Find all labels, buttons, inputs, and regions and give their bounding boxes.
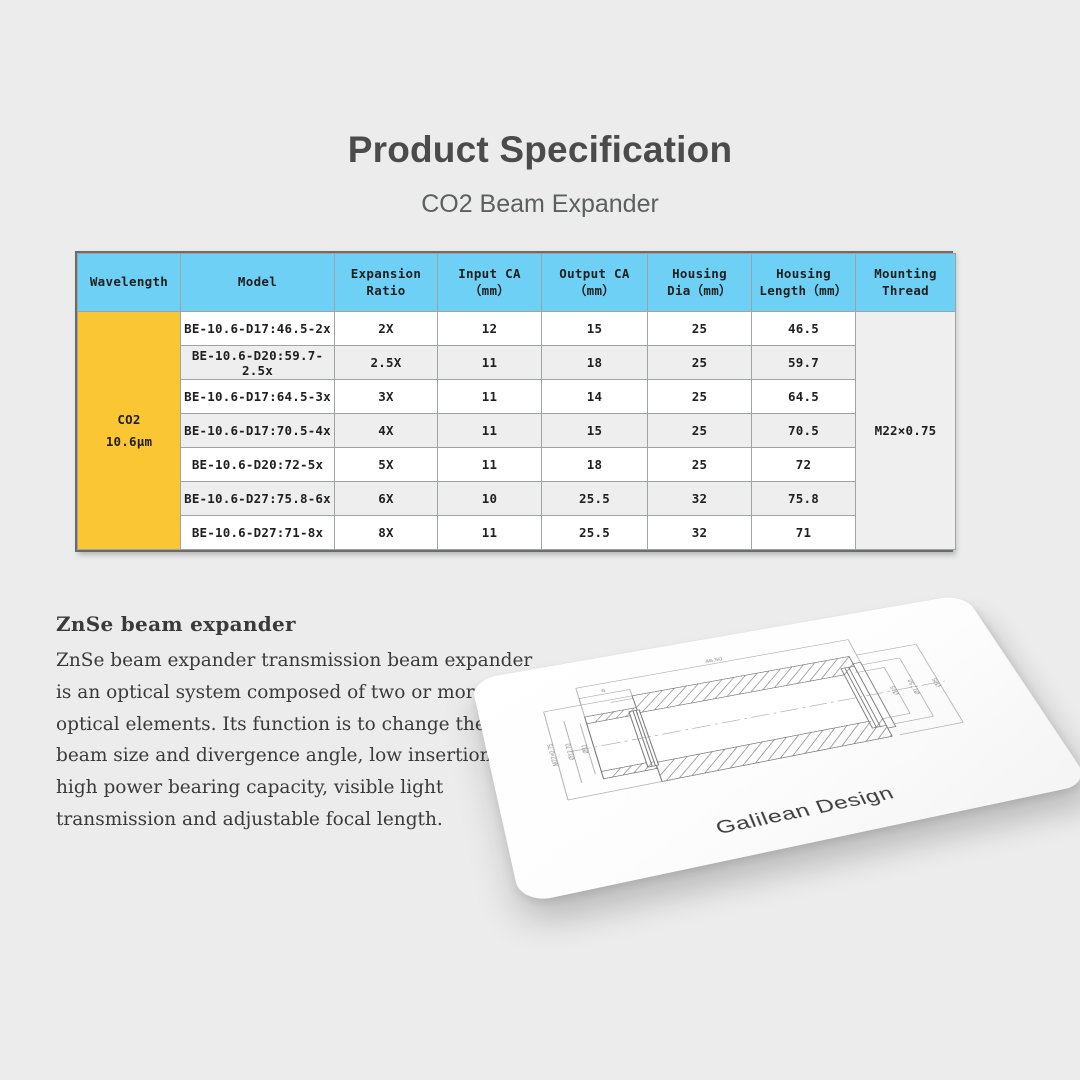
- table-row: BE-10.6-D20:59.7-2.5x 2.5X 11 18 25 59.7: [78, 346, 956, 380]
- description-title: ZnSe beam expander: [56, 612, 541, 636]
- cell-housing-length: 64.5: [752, 380, 856, 414]
- cell-expansion-ratio: 6X: [335, 482, 438, 516]
- header-line-1: Housing: [752, 266, 855, 283]
- header-line-2: Dia（mm）: [648, 283, 751, 300]
- page-title: Product Specification: [0, 128, 1080, 172]
- cross-section-drawing: 46.50 6 M22×0.75 Ø12.70 Ø11 Ø15 Ø17.50 Ø…: [509, 612, 1026, 841]
- cell-expansion-ratio: 2.5X: [335, 346, 438, 380]
- cell-input-ca: 11: [438, 380, 542, 414]
- cell-housing-dia: 25: [648, 414, 752, 448]
- cell-housing-dia: 25: [648, 380, 752, 414]
- dim-seat: Ø17.50: [906, 678, 922, 694]
- column-header-mounting-thread: Mounting Thread: [856, 254, 956, 312]
- cell-housing-dia: 32: [648, 516, 752, 550]
- column-header-output-ca: Output CA （mm）: [542, 254, 648, 312]
- cell-input-ca: 12: [438, 312, 542, 346]
- cell-housing-dia: 32: [648, 482, 752, 516]
- cell-housing-dia: 25: [648, 312, 752, 346]
- cell-output-ca: 14: [542, 380, 648, 414]
- header-line-2: Thread: [856, 283, 955, 300]
- table-row: BE-10.6-D27:75.8-6x 6X 10 25.5 32 75.8: [78, 482, 956, 516]
- cell-expansion-ratio: 5X: [335, 448, 438, 482]
- column-header-expansion-ratio: Expansion Ratio: [335, 254, 438, 312]
- column-header-wavelength: Wavelength: [78, 254, 181, 312]
- dim-bore-2: Ø11: [580, 743, 591, 754]
- cell-wavelength: CO2 10.6μm: [78, 312, 181, 550]
- header-line-2: Ratio: [335, 283, 437, 300]
- wavelength-value: 10.6μm: [78, 431, 180, 452]
- cell-model: BE-10.6-D27:71-8x: [181, 516, 335, 550]
- technical-drawing-card: 46.50 6 M22×0.75 Ø12.70 Ø11 Ø15 Ø17.50 Ø…: [471, 594, 1080, 904]
- cell-housing-dia: 25: [648, 346, 752, 380]
- wavelength-label: CO2: [78, 409, 180, 430]
- cell-output-ca: 25.5: [542, 516, 648, 550]
- column-header-model: Model: [181, 254, 335, 312]
- cell-expansion-ratio: 3X: [335, 380, 438, 414]
- cell-model: BE-10.6-D20:72-5x: [181, 448, 335, 482]
- header-line-1: Expansion: [335, 266, 437, 283]
- cell-model: BE-10.6-D17:70.5-4x: [181, 414, 335, 448]
- dim-aperture: Ø15: [889, 685, 901, 695]
- cell-output-ca: 15: [542, 414, 648, 448]
- description-body: ZnSe beam expander transmission beam exp…: [56, 645, 541, 836]
- header-line-1: Input CA: [438, 266, 541, 283]
- header-line-1: Mounting: [856, 266, 955, 283]
- header-line-2: Length（mm）: [752, 283, 855, 300]
- cell-input-ca: 10: [438, 482, 542, 516]
- cell-output-ca: 18: [542, 448, 648, 482]
- cell-mounting-thread: M22×0.75: [856, 312, 956, 550]
- table-row: BE-10.6-D27:71-8x 8X 11 25.5 32 71: [78, 516, 956, 550]
- page-subtitle: CO2 Beam Expander: [0, 172, 1080, 219]
- cell-housing-length: 59.7: [752, 346, 856, 380]
- cell-input-ca: 11: [438, 448, 542, 482]
- cell-expansion-ratio: 2X: [335, 312, 438, 346]
- cell-input-ca: 11: [438, 346, 542, 380]
- cell-output-ca: 15: [542, 312, 648, 346]
- header-line-1: Housing: [648, 266, 751, 283]
- table-row: CO2 10.6μm BE-10.6-D17:46.5-2x 2X 12 15 …: [78, 312, 956, 346]
- dim-step-length: 6: [601, 688, 607, 694]
- cell-expansion-ratio: 8X: [335, 516, 438, 550]
- column-header-input-ca: Input CA （mm）: [438, 254, 542, 312]
- cell-model: BE-10.6-D20:59.7-2.5x: [181, 346, 335, 380]
- cell-model: BE-10.6-D27:75.8-6x: [181, 482, 335, 516]
- page-header: Product Specification CO2 Beam Expander: [0, 128, 1080, 219]
- cell-input-ca: 11: [438, 516, 542, 550]
- header-line-1: Output CA: [542, 266, 647, 283]
- table-row: BE-10.6-D20:72-5x 5X 11 18 25 72: [78, 448, 956, 482]
- table-row: BE-10.6-D17:70.5-4x 4X 11 15 25 70.5: [78, 414, 956, 448]
- cell-housing-length: 75.8: [752, 482, 856, 516]
- header-line-2: （mm）: [438, 283, 541, 300]
- table-row: BE-10.6-D17:64.5-3x 3X 11 14 25 64.5: [78, 380, 956, 414]
- cell-model: BE-10.6-D17:64.5-3x: [181, 380, 335, 414]
- header-line-1: Model: [181, 274, 334, 291]
- cell-model: BE-10.6-D17:46.5-2x: [181, 312, 335, 346]
- dim-bore-1: Ø12.70: [564, 742, 577, 760]
- specification-table: Wavelength Model Expansion Ratio Input C…: [77, 253, 956, 550]
- specification-table-container: Wavelength Model Expansion Ratio Input C…: [75, 251, 953, 552]
- drawing-card-stage: 46.50 6 M22×0.75 Ø12.70 Ø11 Ø15 Ø17.50 Ø…: [470, 560, 1080, 940]
- column-header-housing-dia: Housing Dia（mm）: [648, 254, 752, 312]
- dim-overall-length: 46.50: [704, 657, 723, 665]
- cell-housing-dia: 25: [648, 448, 752, 482]
- card-inner: 46.50 6 M22×0.75 Ø12.70 Ø11 Ø15 Ø17.50 Ø…: [471, 594, 1080, 904]
- cell-output-ca: 18: [542, 346, 648, 380]
- table-header-row: Wavelength Model Expansion Ratio Input C…: [78, 254, 956, 312]
- cell-housing-length: 72: [752, 448, 856, 482]
- cell-housing-length: 71: [752, 516, 856, 550]
- cell-input-ca: 11: [438, 414, 542, 448]
- table-body: CO2 10.6μm BE-10.6-D17:46.5-2x 2X 12 15 …: [78, 312, 956, 550]
- dim-thread: M22×0.75: [546, 743, 561, 767]
- description-block: ZnSe beam expander ZnSe beam expander tr…: [56, 612, 541, 836]
- cell-housing-length: 46.5: [752, 312, 856, 346]
- column-header-housing-length: Housing Length（mm）: [752, 254, 856, 312]
- cell-expansion-ratio: 4X: [335, 414, 438, 448]
- header-line-1: Wavelength: [78, 274, 180, 291]
- cell-housing-length: 70.5: [752, 414, 856, 448]
- dim-outer-dia: Ø25: [931, 677, 943, 687]
- cell-output-ca: 25.5: [542, 482, 648, 516]
- header-line-2: （mm）: [542, 283, 647, 300]
